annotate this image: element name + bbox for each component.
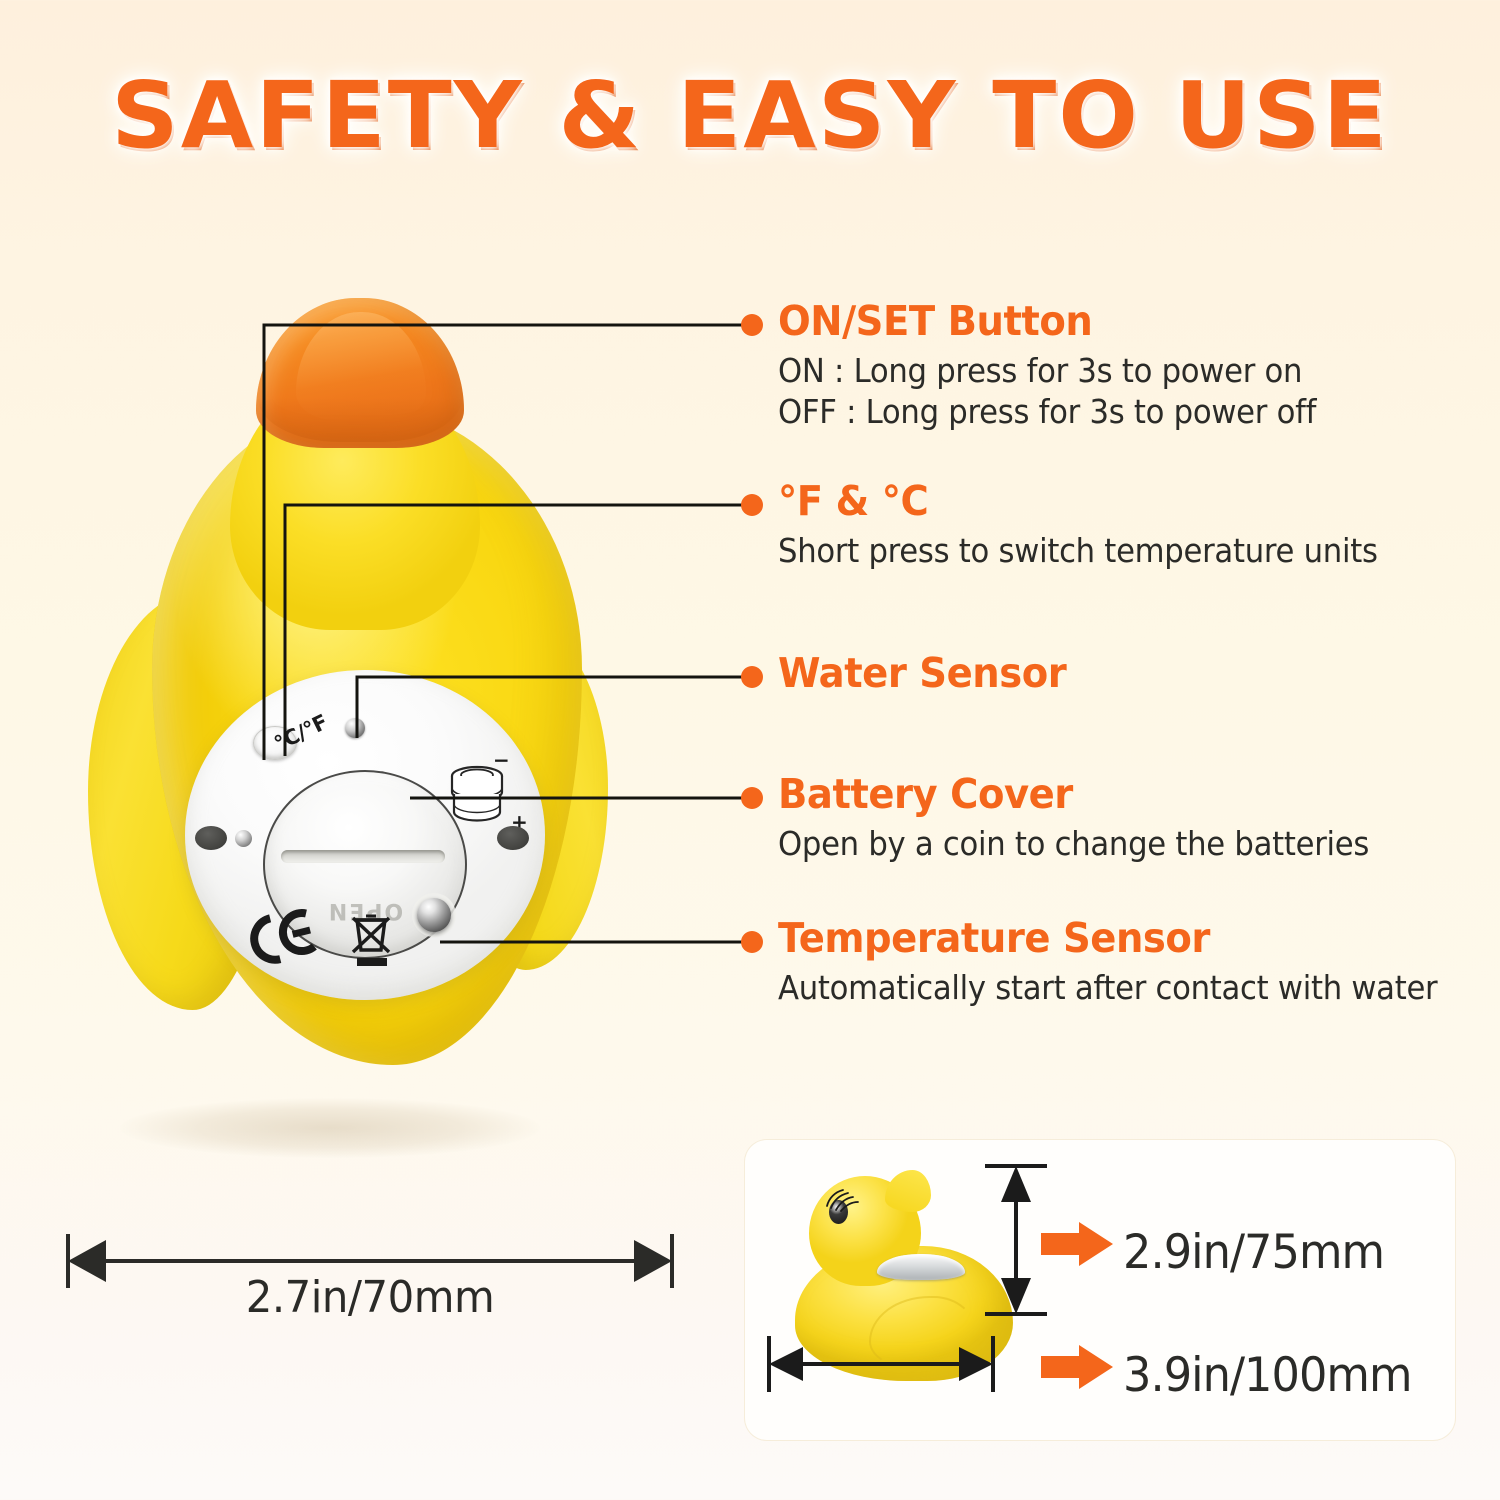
callout-body-line: Automatically start after contact with w…: [778, 967, 1437, 1008]
size-inset-panel: 2.9in/75mm 3.9in/100mm: [745, 1140, 1455, 1440]
callout-body-line: Open by a coin to change the batteries: [778, 823, 1369, 864]
device-base-panel: ON/OFF °C/°F Battery: 2*1.5V LR44 (AG13)…: [185, 670, 545, 1000]
ce-mark-icon: [245, 906, 319, 968]
width-dimension-label: 2.7in/70mm: [76, 1272, 665, 1323]
callout-heading: Water Sensor: [778, 650, 1066, 696]
weee-bin-icon: [343, 910, 401, 972]
inset-height-label: 2.9in/75mm: [1123, 1225, 1384, 1280]
callout-heading: °F & °C: [778, 478, 1384, 524]
callout-body-line: Short press to switch temperature units: [778, 530, 1378, 571]
page-title: SAFETY & EASY TO USE: [0, 62, 1500, 169]
infographic-root: SAFETY & EASY TO USE ON/OFF °C/°F Batter…: [0, 0, 1500, 1500]
callout-battery-cover: Battery Cover Open by a coin to change t…: [778, 771, 1414, 864]
callout-body-line: ON : Long press for 3s to power on: [778, 350, 1316, 391]
callout-water-sensor: Water Sensor: [778, 650, 1085, 696]
contact-pin: [235, 830, 252, 847]
callout-temperature-sensor: Temperature Sensor Automatically start a…: [778, 915, 1487, 1008]
callout-heading: ON/SET Button: [778, 298, 1322, 344]
callout-f-and-c: °F & °C Short press to switch temperatur…: [778, 478, 1423, 571]
coin-slot[interactable]: [281, 850, 445, 863]
inset-width-label: 3.9in/100mm: [1123, 1348, 1412, 1403]
callout-heading: Temperature Sensor: [778, 915, 1444, 961]
callout-on-set-button: ON/SET Button ON : Long press for 3s to …: [778, 298, 1357, 432]
rubber-foot-left: [195, 826, 227, 850]
rubber-foot-right: [497, 826, 529, 850]
unit-switch-label: °C/°F: [270, 710, 331, 756]
callout-body-line: OFF : Long press for 3s to power off: [778, 391, 1316, 432]
callout-heading: Battery Cover: [778, 771, 1375, 817]
battery-minus-label: −: [493, 748, 510, 772]
temperature-sensor-probe[interactable]: [417, 898, 451, 932]
water-sensor-probe[interactable]: [345, 718, 365, 738]
